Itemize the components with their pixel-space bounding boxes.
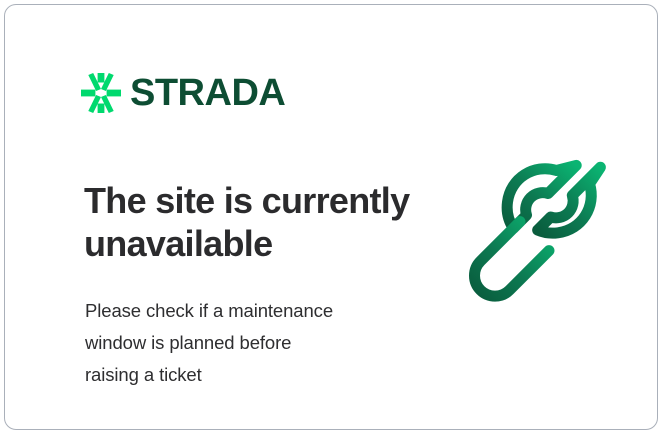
page-title: The site is currently unavailable [84, 179, 424, 265]
page-description: Please check if a maintenance window is … [85, 295, 415, 391]
page-description-line-3: raising a ticket [85, 359, 415, 391]
page-description-line-1: Please check if a maintenance [85, 295, 415, 327]
strada-asterisk-icon [81, 73, 121, 113]
page-description-line-2: window is planned before [85, 327, 415, 359]
brand-wordmark: STRADA [130, 74, 285, 112]
wrench-icon [460, 153, 620, 318]
status-card: STRADA The site is currently unavailable… [4, 4, 658, 430]
page-title-line-2: unavailable [84, 222, 424, 265]
page-title-line-1: The site is currently [84, 179, 424, 222]
brand-lockup: STRADA [81, 73, 285, 113]
error-page: STRADA The site is currently unavailable… [0, 0, 666, 436]
